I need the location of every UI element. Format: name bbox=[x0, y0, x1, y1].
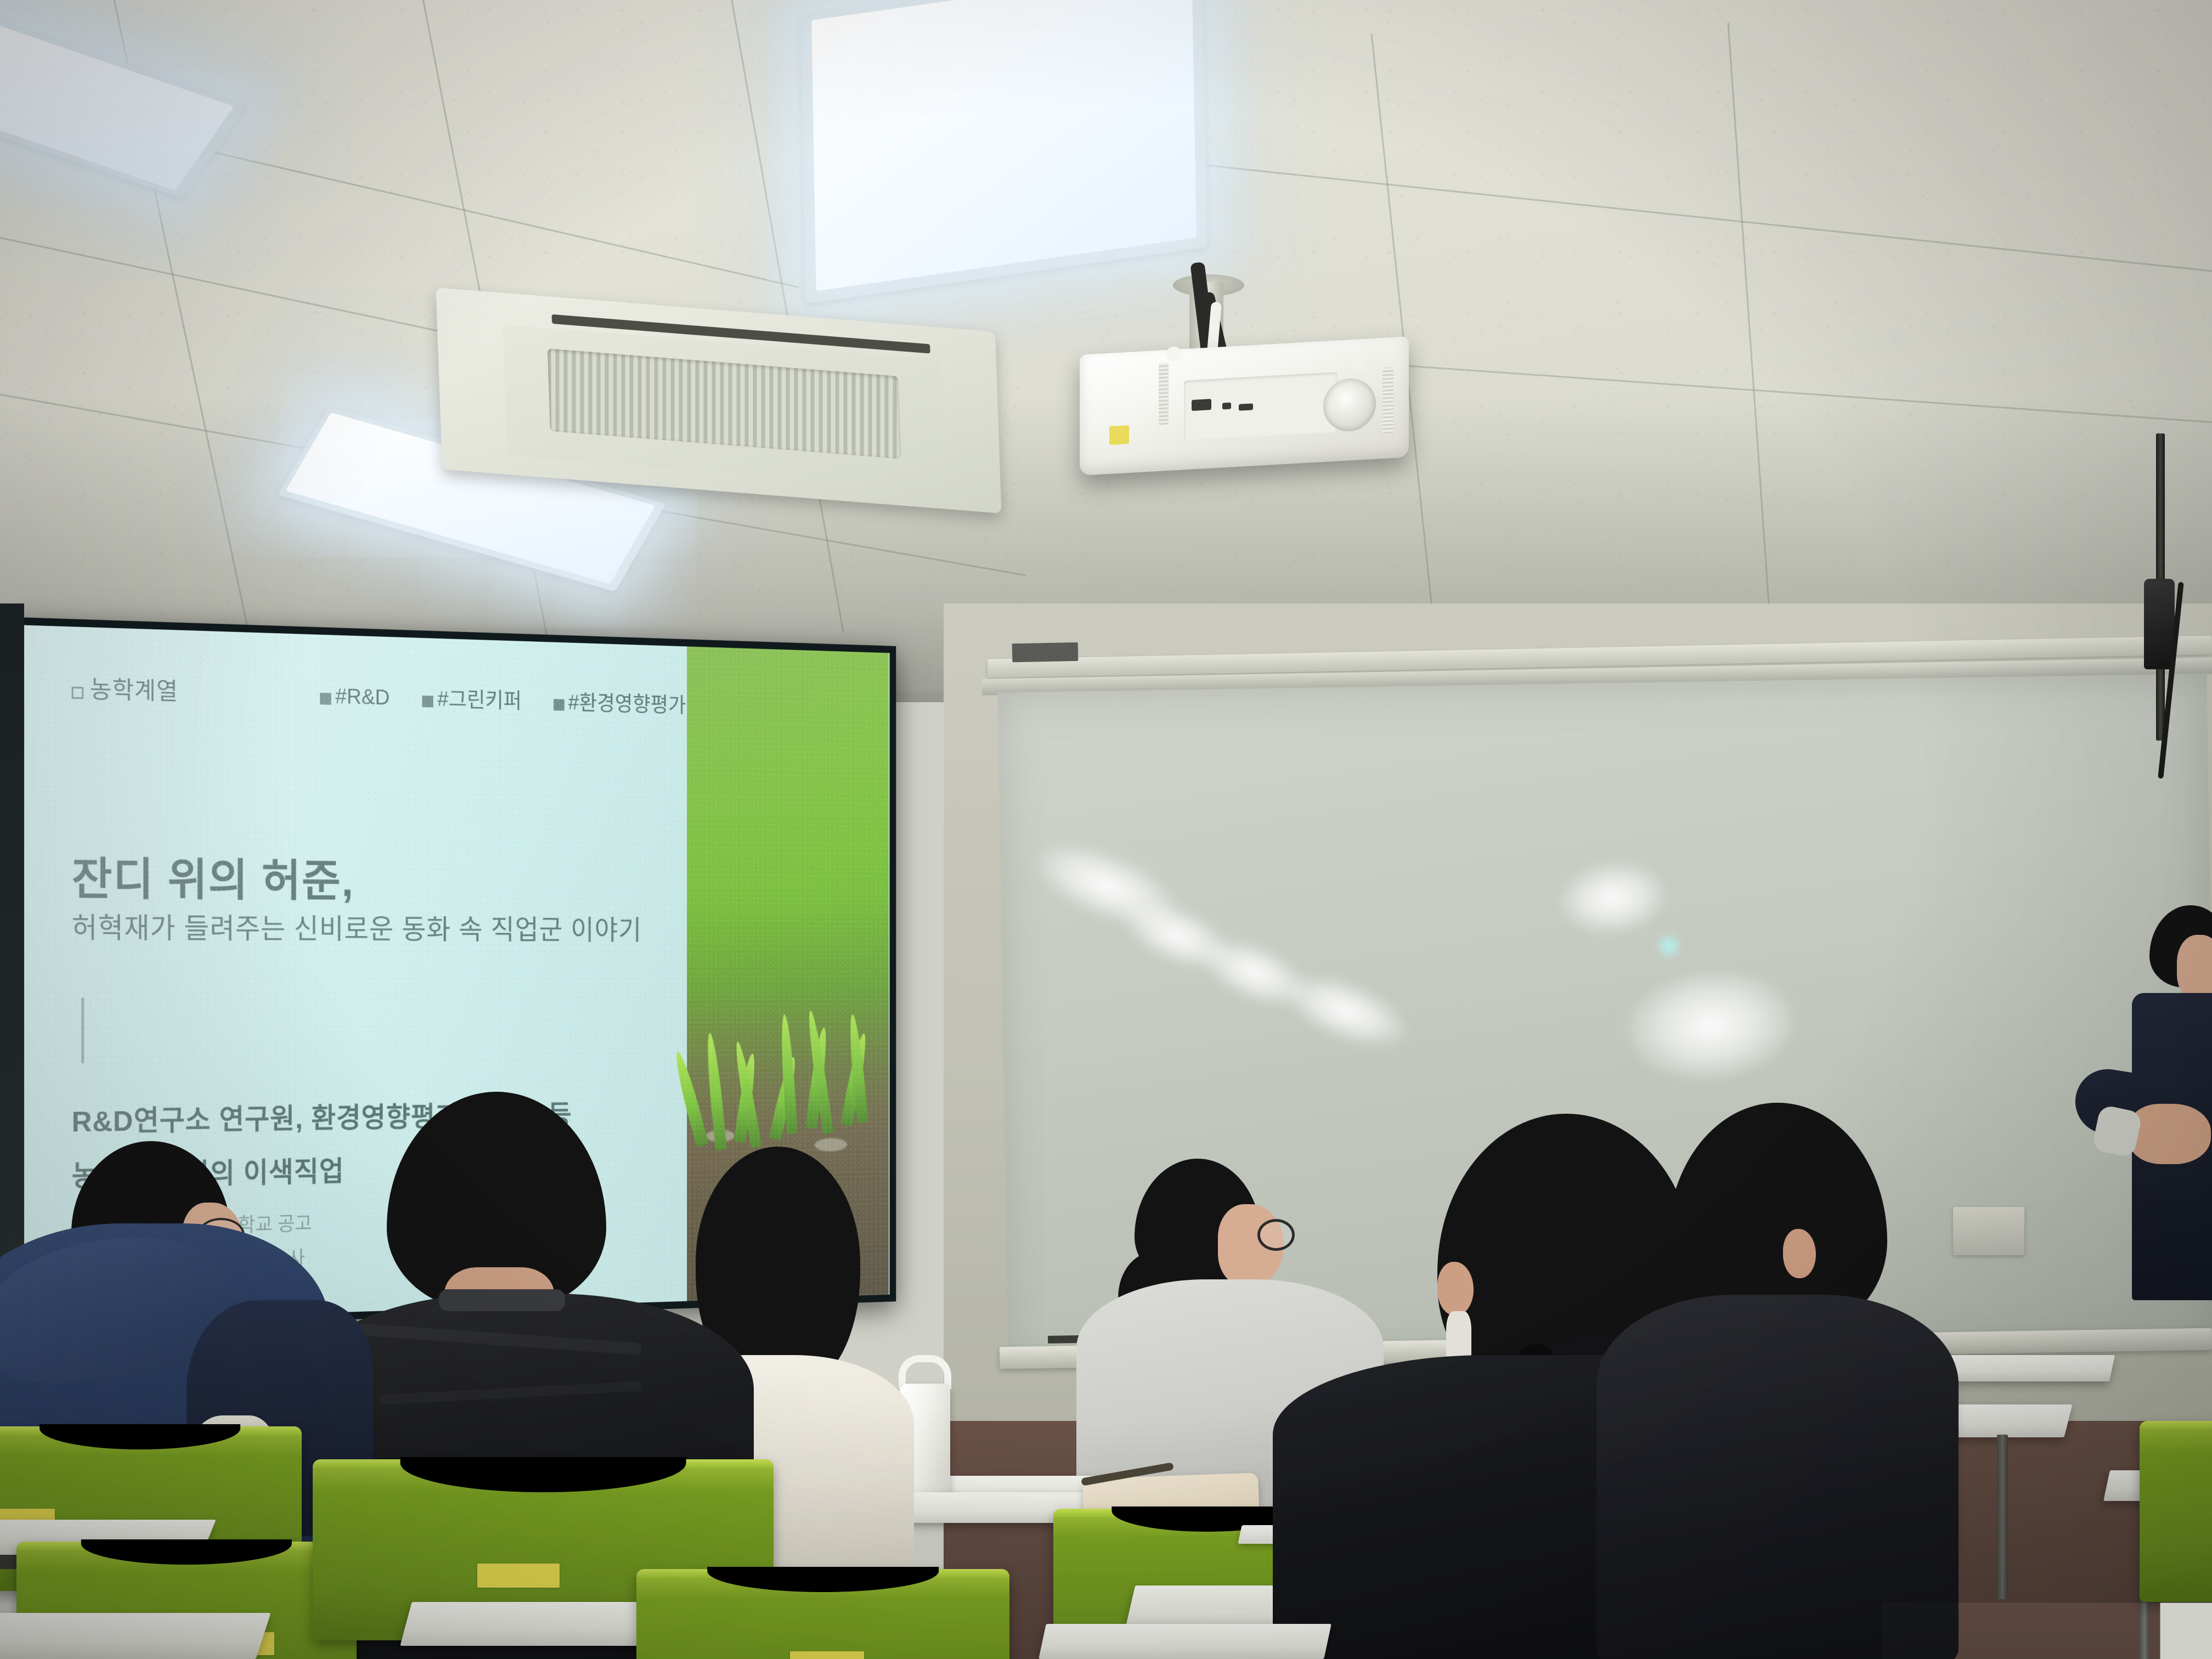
slide-category: 농학계열 bbox=[72, 669, 178, 707]
slide-title: 잔디 위의 허준, bbox=[72, 842, 354, 909]
chair bbox=[636, 1569, 1009, 1659]
hashtag-eia: #환경영향평가 bbox=[568, 691, 686, 717]
slide-divider bbox=[81, 998, 84, 1063]
square-bullet-icon bbox=[422, 696, 433, 708]
chair-back-notch bbox=[707, 1567, 939, 1592]
square-bullet-icon bbox=[554, 699, 565, 710]
projector-power-port bbox=[1239, 403, 1253, 410]
ear bbox=[1783, 1229, 1816, 1278]
slide-category-label: 농학계열 bbox=[90, 676, 178, 706]
chair-back-notch bbox=[39, 1424, 240, 1449]
projector-vent-right bbox=[1383, 367, 1393, 433]
slide-hashtag-row: #R&D #그린키퍼 #환경영향평가 bbox=[320, 679, 686, 719]
asset-tag-sticker bbox=[477, 1564, 560, 1588]
projector-vent-left bbox=[1159, 363, 1169, 425]
ceiling-projector-assembly bbox=[1075, 269, 1459, 499]
torso bbox=[1596, 1295, 1959, 1659]
projector-hdmi-port bbox=[1192, 399, 1211, 411]
chair-back-notch bbox=[81, 1539, 292, 1565]
hashtag-rd: #R&D bbox=[335, 685, 390, 709]
whiteboard-glare-6 bbox=[1624, 966, 1797, 1086]
slide-subtitle: 허혁재가 들려주는 신비로운 동화 속 직업군 이야기 bbox=[72, 905, 642, 947]
projector-knob-right bbox=[1352, 358, 1365, 371]
chair-back-notch bbox=[400, 1457, 686, 1492]
desk-leg bbox=[1997, 1435, 2008, 1599]
projector-knob bbox=[1166, 347, 1182, 361]
desk-top bbox=[0, 1613, 271, 1659]
whiteboard-glare-teal-dot bbox=[1654, 932, 1683, 961]
wall-utility-box bbox=[1953, 1207, 2024, 1255]
student-dark-hoodie bbox=[1607, 1103, 1948, 1659]
asset-tag-sticker bbox=[790, 1651, 864, 1659]
presenter-dark-sweater bbox=[2030, 911, 2212, 1514]
desk-top bbox=[1039, 1624, 1331, 1659]
face-side bbox=[2177, 935, 2212, 1001]
projector-vga-port bbox=[1222, 403, 1231, 410]
whiteboard-rail-bracket bbox=[1012, 642, 1079, 662]
presenter-hand bbox=[2129, 1104, 2211, 1164]
square-bullet-icon bbox=[320, 693, 331, 705]
ear bbox=[1437, 1262, 1474, 1316]
hashtag-greenkeeper: #그린키퍼 bbox=[437, 687, 522, 713]
whiteboard-glare-5 bbox=[1557, 858, 1669, 939]
checkbox-icon bbox=[72, 687, 84, 699]
projector-warning-sticker bbox=[1109, 425, 1129, 445]
windbreaker-collar bbox=[439, 1289, 565, 1311]
classroom-photo: 농학계열 #R&D #그린키퍼 #환경영향평가 잔디 위의 허준, 허혁재가 들… bbox=[0, 0, 2212, 1659]
